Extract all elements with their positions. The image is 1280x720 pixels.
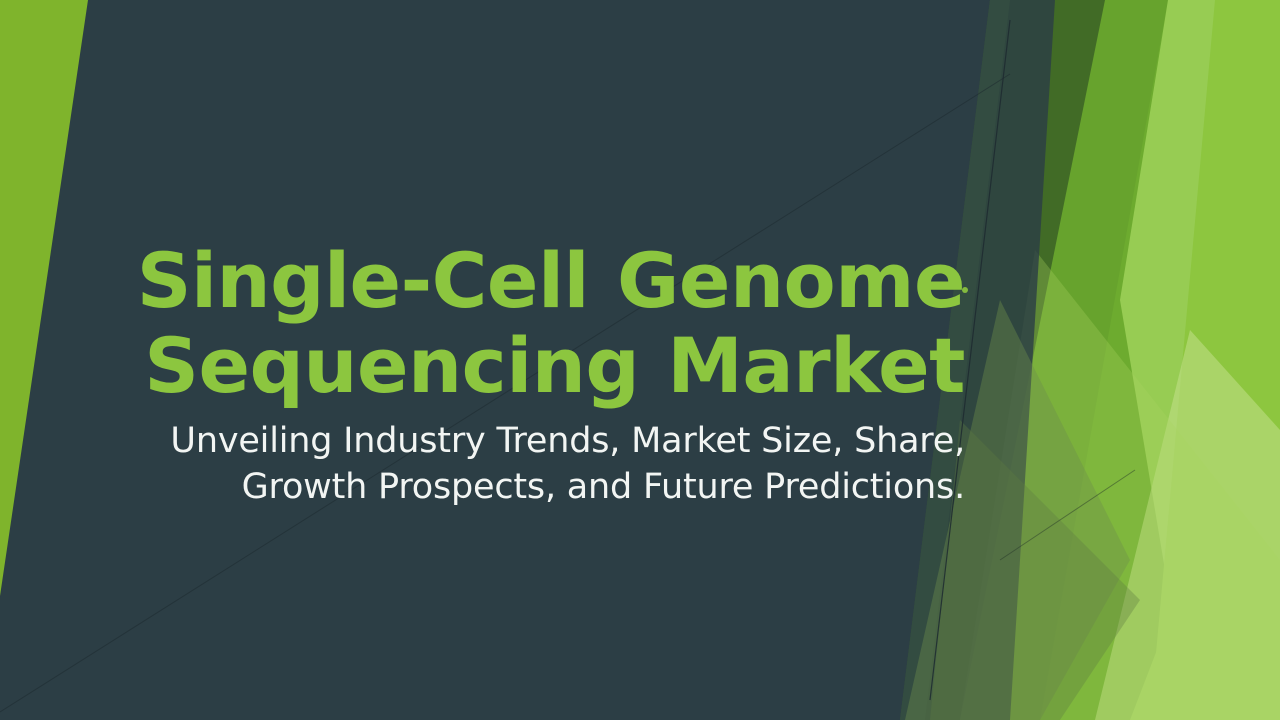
- presentation-slide: Single-Cell Genome Sequencing Market Unv…: [0, 0, 1280, 720]
- accent-dot: [962, 287, 968, 293]
- main-dark-panel: [0, 0, 990, 720]
- decorative-background-art: [0, 0, 1280, 720]
